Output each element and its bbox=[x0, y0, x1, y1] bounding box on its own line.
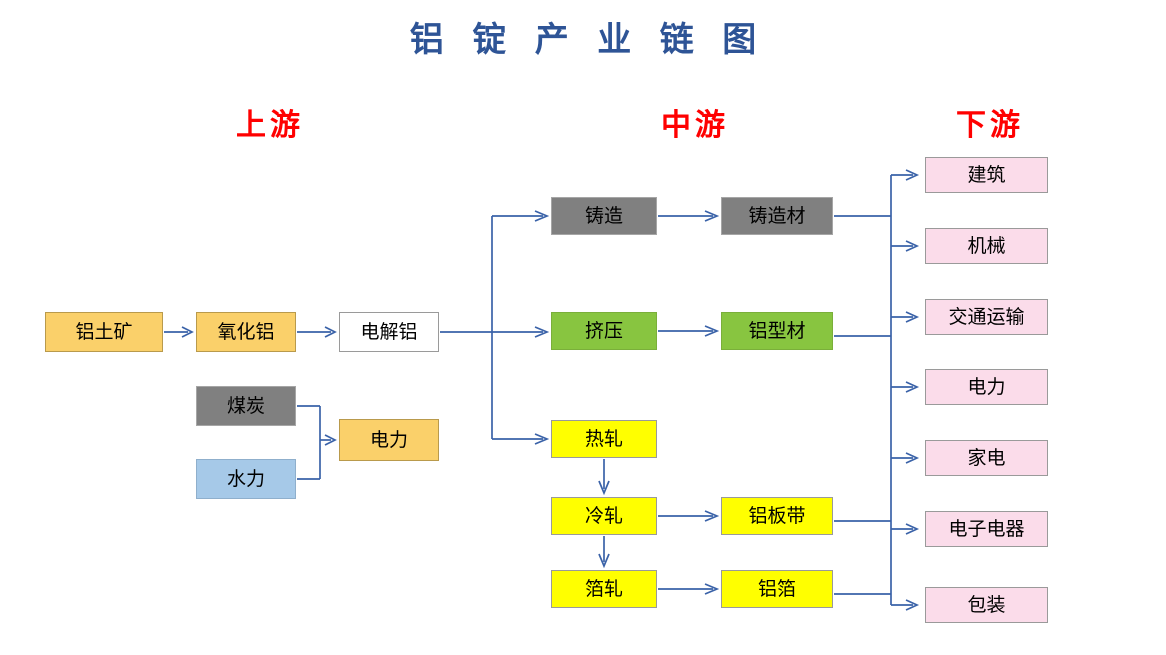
arrow-head bbox=[705, 326, 717, 336]
arrow-head bbox=[599, 481, 609, 493]
node-package[interactable]: 包装 bbox=[925, 587, 1048, 623]
node-foil[interactable]: 铝箔 bbox=[721, 570, 833, 608]
arrow-head bbox=[535, 434, 547, 444]
node-hotroll[interactable]: 热轧 bbox=[551, 420, 657, 458]
section-header-2: 中游 bbox=[630, 100, 760, 144]
node-build[interactable]: 建筑 bbox=[925, 157, 1048, 193]
arrow-head bbox=[705, 211, 717, 221]
arrow-head bbox=[599, 554, 609, 566]
midstream-connectors bbox=[599, 211, 717, 594]
arrow-head bbox=[906, 312, 917, 322]
arrow-head bbox=[906, 170, 917, 180]
section-header-3: 下游 bbox=[925, 100, 1055, 144]
arrow-head bbox=[705, 511, 717, 521]
node-baux[interactable]: 铝土矿 bbox=[45, 312, 163, 352]
node-hydro[interactable]: 水力 bbox=[196, 459, 296, 499]
arrow-head bbox=[906, 453, 917, 463]
arrow-head bbox=[325, 435, 335, 445]
arrow-head bbox=[325, 327, 335, 337]
arrow-head bbox=[535, 211, 547, 221]
node-transit[interactable]: 交通运输 bbox=[925, 299, 1048, 335]
arrow-head bbox=[906, 241, 917, 251]
node-home[interactable]: 家电 bbox=[925, 440, 1048, 476]
arrow-head bbox=[906, 600, 917, 610]
arrow-head bbox=[535, 327, 547, 337]
section-header-1: 上游 bbox=[205, 100, 335, 144]
arrow-head bbox=[182, 327, 192, 337]
arrow-head bbox=[906, 524, 917, 534]
page-title: 铝 锭 产 业 链 图 bbox=[0, 12, 1166, 61]
node-foilroll[interactable]: 箔轧 bbox=[551, 570, 657, 608]
node-profile[interactable]: 铝型材 bbox=[721, 312, 833, 350]
downstream-connectors bbox=[834, 170, 917, 610]
node-strip[interactable]: 铝板带 bbox=[721, 497, 833, 535]
diagram-canvas: 铝 锭 产 业 链 图 上游中游下游 bbox=[0, 0, 1166, 655]
arrow-head bbox=[906, 382, 917, 392]
node-coal[interactable]: 煤炭 bbox=[196, 386, 296, 426]
arrow-head bbox=[705, 584, 717, 594]
node-alumina[interactable]: 氧化铝 bbox=[196, 312, 296, 352]
node-elecpwr[interactable]: 电力 bbox=[925, 369, 1048, 405]
node-power[interactable]: 电力 bbox=[339, 419, 439, 461]
node-cast-m[interactable]: 铸造材 bbox=[721, 197, 833, 235]
node-eleapp[interactable]: 电子电器 bbox=[925, 511, 1048, 547]
node-coldroll[interactable]: 冷轧 bbox=[551, 497, 657, 535]
node-cast[interactable]: 铸造 bbox=[551, 197, 657, 235]
node-extr[interactable]: 挤压 bbox=[551, 312, 657, 350]
node-elec-al[interactable]: 电解铝 bbox=[339, 312, 439, 352]
node-machine[interactable]: 机械 bbox=[925, 228, 1048, 264]
